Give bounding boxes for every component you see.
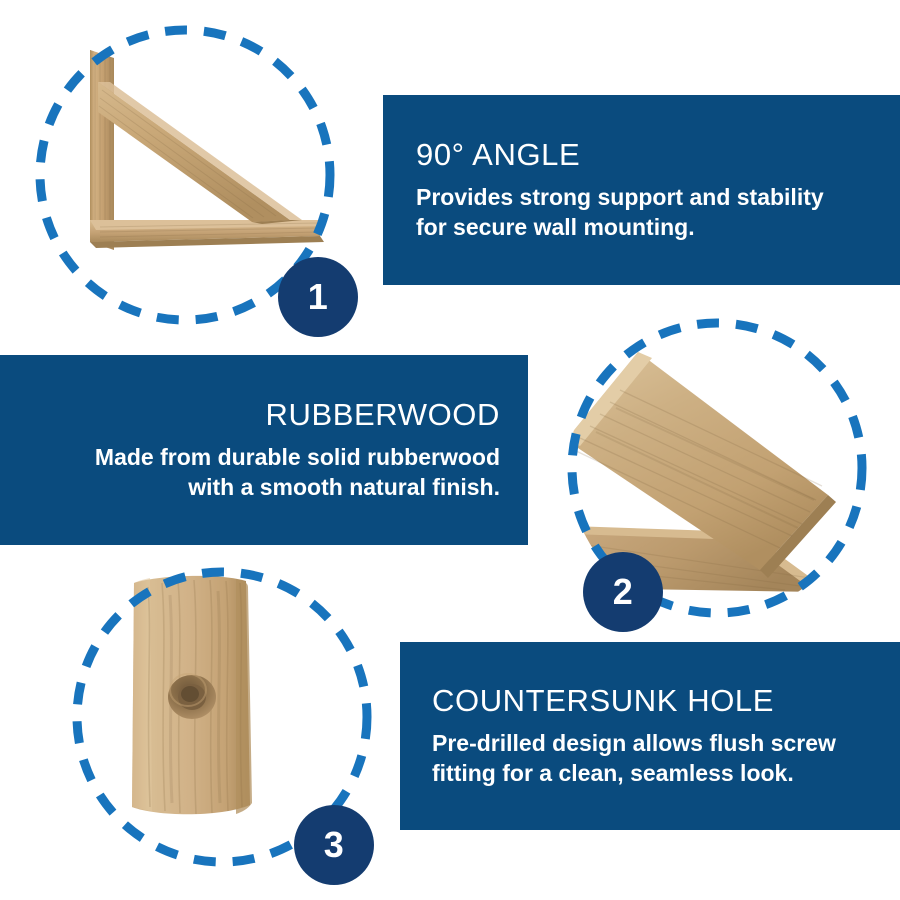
feature-3-body: Pre-drilled design allows flush screw fi… xyxy=(432,728,836,789)
feature-3-number-badge: 3 xyxy=(294,805,374,885)
feature-1-number-badge: 1 xyxy=(278,257,358,337)
feature-2-body-line-2: with a smooth natural finish. xyxy=(188,474,500,500)
feature-1-body-line-1: Provides strong support and stability xyxy=(416,184,824,210)
feature-3-panel: COUNTERSUNK HOLE Pre-drilled design allo… xyxy=(400,642,900,830)
product-feature-infographic: 90° ANGLE Provides strong support and st… xyxy=(0,0,900,900)
feature-2-title: RUBBERWOOD xyxy=(265,398,500,433)
feature-3-body-line-1: Pre-drilled design allows flush screw xyxy=(432,730,836,756)
feature-1-panel: 90° ANGLE Provides strong support and st… xyxy=(383,95,900,285)
feature-2-number-badge: 2 xyxy=(583,552,663,632)
feature-1-title: 90° ANGLE xyxy=(416,138,580,173)
feature-3-title: COUNTERSUNK HOLE xyxy=(432,684,774,719)
feature-2-panel: RUBBERWOOD Made from durable solid rubbe… xyxy=(0,355,528,545)
feature-2-body: Made from durable solid rubberwood with … xyxy=(95,442,500,503)
feature-3-body-line-2: fitting for a clean, seamless look. xyxy=(432,760,794,786)
feature-1-body: Provides strong support and stability fo… xyxy=(416,182,824,243)
feature-2-body-line-1: Made from durable solid rubberwood xyxy=(95,444,500,470)
feature-1-body-line-2: for secure wall mounting. xyxy=(416,214,695,240)
